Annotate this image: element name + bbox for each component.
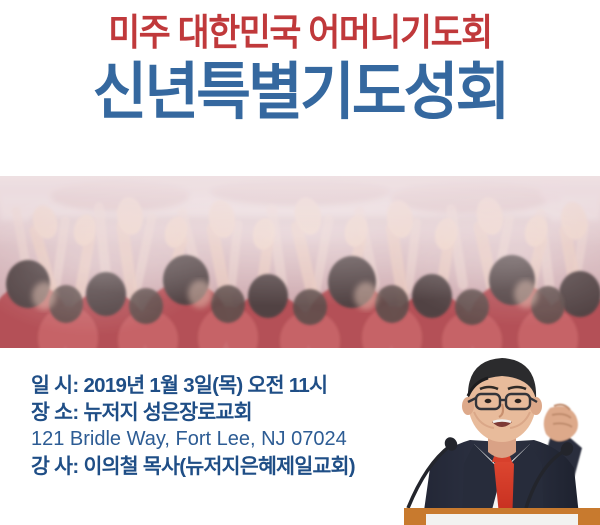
poster-title-block: 미주 대한민국 어머니기도회 신년특별기도성회 xyxy=(0,10,600,128)
event-datetime-line: 일 시: 2019년 1월 3일(목) 오전 11시 xyxy=(31,372,421,399)
crowd-photo xyxy=(0,176,600,348)
crowd-photo-image xyxy=(0,176,600,348)
poster-title-line-2: 신년특별기도성회 xyxy=(12,58,588,128)
podium xyxy=(404,508,600,525)
event-info-block: 일 시: 2019년 1월 3일(목) 오전 11시 장 소: 뉴저지 성은장로… xyxy=(31,372,421,480)
speaker-portrait xyxy=(404,352,600,525)
event-speaker-line: 강 사: 이의철 목사(뉴저지은혜제일교회) xyxy=(31,453,421,480)
poster-root: 미주 대한민국 어머니기도회 신년특별기도성회 xyxy=(0,0,600,525)
poster-title-line-1: 미주 대한민국 어머니기도회 xyxy=(18,10,582,56)
event-address-line: 121 Bridle Way, Fort Lee, NJ 07024 xyxy=(31,426,421,453)
speaker-portrait-image xyxy=(404,352,600,525)
event-venue-line: 장 소: 뉴저지 성은장로교회 xyxy=(31,399,421,426)
